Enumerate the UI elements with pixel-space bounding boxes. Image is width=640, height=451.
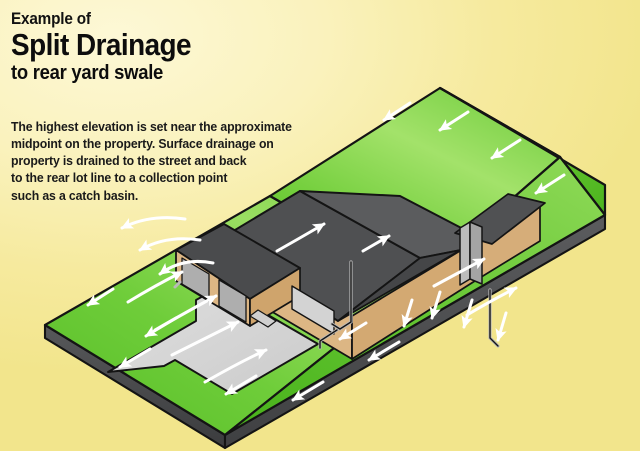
corner-column-face	[470, 222, 482, 284]
arrow-house-rear-3	[498, 313, 506, 340]
illustration-canvas: Example of Split Drainage to rear yard s…	[0, 0, 640, 451]
drainage-illustration	[0, 0, 640, 451]
corner-column	[460, 222, 470, 285]
arrow-curve-3	[122, 218, 185, 228]
